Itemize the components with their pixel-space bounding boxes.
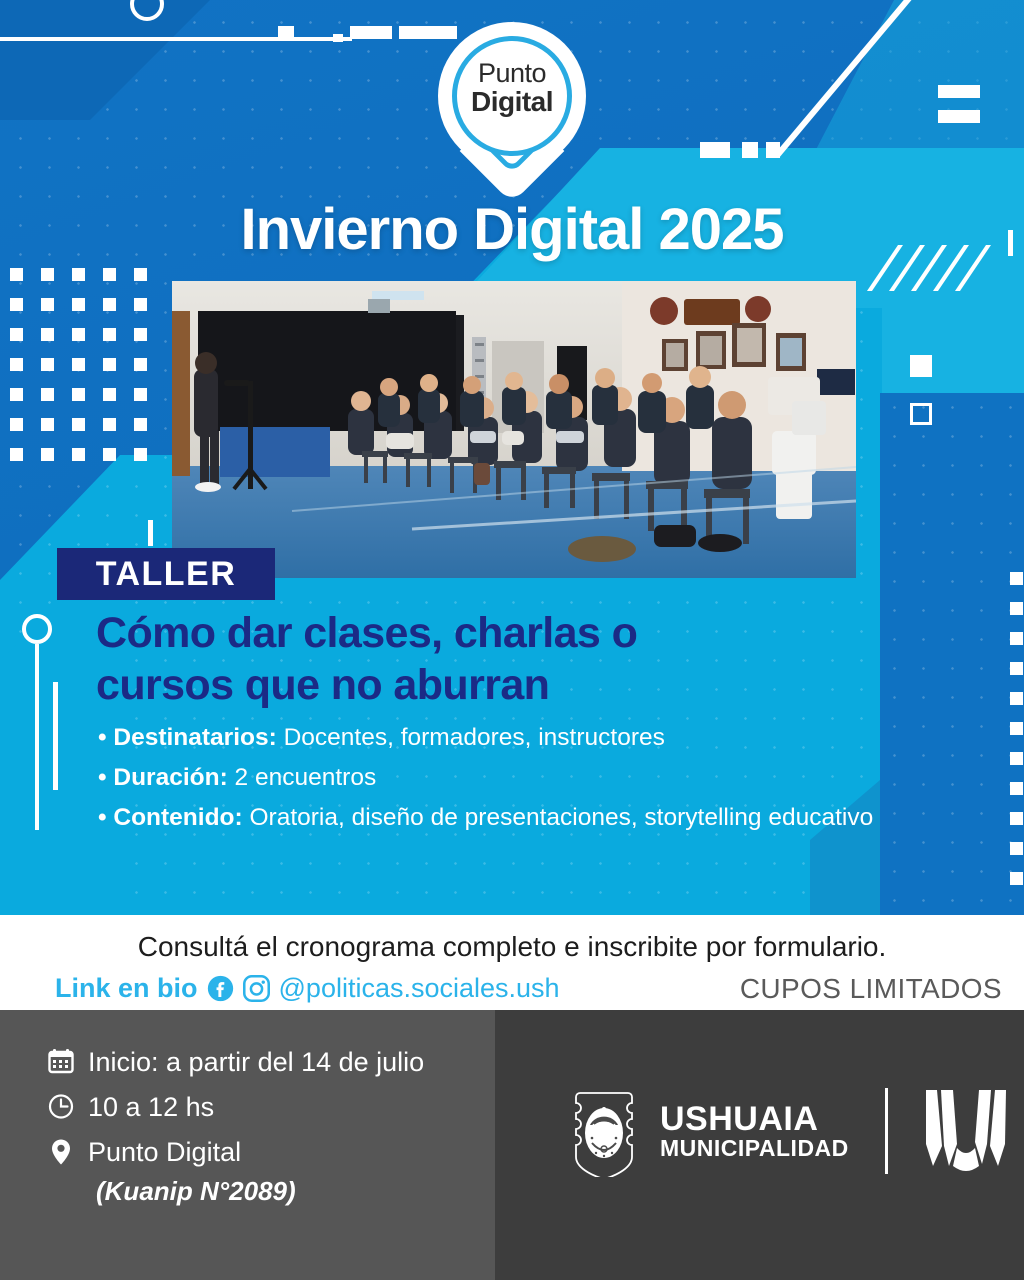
vertical-line-decoration-short xyxy=(53,682,58,790)
ushuaia-coat-of-arms-icon xyxy=(570,1085,638,1177)
social-handle[interactable]: @politicas.sociales.ush xyxy=(279,973,560,1004)
workshop-details-list: • Destinatarios: Docentes, formadores, i… xyxy=(98,718,928,838)
map-pin-icon xyxy=(48,1138,74,1166)
event-address-text: (Kuanip N°2089) xyxy=(96,1176,424,1207)
workshop-headline: Cómo dar clases, charlas o cursos que no… xyxy=(96,608,856,711)
poster-root: Punto Digital Invierno Digital 2025 xyxy=(0,0,1024,1280)
limited-slots-note: CUPOS LIMITADOS xyxy=(740,973,1002,1005)
bullet-marker: • xyxy=(98,764,107,791)
event-photo-illustration xyxy=(172,281,856,578)
pin-label: Punto Digital xyxy=(438,60,586,116)
list-item: • Contenido: Oratoria, diseño de present… xyxy=(98,798,928,838)
event-time-row: 10 a 12 hs xyxy=(48,1090,424,1125)
detail-label: Duración: xyxy=(113,764,227,791)
facebook-icon[interactable] xyxy=(207,975,234,1002)
detail-value: Docentes, formadores, instructores xyxy=(277,724,665,751)
bullet-marker: • xyxy=(98,724,107,751)
pin-label-line1: Punto xyxy=(438,60,586,88)
calendar-icon xyxy=(48,1048,74,1076)
pin-label-line2: Digital xyxy=(438,88,586,117)
link-in-bio-label[interactable]: Link en bio xyxy=(55,973,198,1004)
equals-bars-decoration xyxy=(938,85,980,135)
instagram-icon[interactable] xyxy=(243,975,270,1002)
headline-line-1: Cómo dar clases, charlas o xyxy=(96,608,856,660)
detail-value: Oratoria, diseño de presentaciones, stor… xyxy=(243,804,874,831)
event-place-row: Punto Digital xyxy=(48,1135,424,1170)
square-filled-decoration xyxy=(910,355,932,377)
clock-icon xyxy=(48,1093,74,1121)
square-outline-decoration xyxy=(910,403,932,425)
event-info-block: Inicio: a partir del 14 de julio 10 a 12… xyxy=(48,1045,424,1207)
cta-instruction: Consultá el cronograma completo e inscri… xyxy=(0,931,1024,963)
social-row[interactable]: Link en bio @politicas.sociales.ush xyxy=(55,973,560,1004)
logo-divider xyxy=(885,1088,888,1174)
org-subtitle: MUNICIPALIDAD xyxy=(660,1137,849,1160)
detail-value: 2 encuentros xyxy=(228,764,376,791)
ushuaia-u-logo-icon xyxy=(924,1086,1008,1176)
page-title: Invierno Digital 2025 xyxy=(0,196,1024,263)
cta-band: Consultá el cronograma completo e inscri… xyxy=(0,915,1024,1010)
event-time-text: 10 a 12 hs xyxy=(88,1090,214,1125)
badge-label: TALLER xyxy=(96,555,237,594)
detail-label: Contenido: xyxy=(113,804,242,831)
dashed-line-decoration xyxy=(0,37,352,41)
list-item: • Duración: 2 encuentros xyxy=(98,758,928,798)
event-photo xyxy=(172,281,856,578)
status-badge: TALLER xyxy=(57,548,275,600)
circle-outline-decoration-left xyxy=(22,614,52,644)
event-start-row: Inicio: a partir del 14 de julio xyxy=(48,1045,424,1080)
event-place-text: Punto Digital xyxy=(88,1135,241,1170)
municipality-wordmark: USHUAIA MUNICIPALIDAD xyxy=(660,1102,849,1160)
org-name: USHUAIA xyxy=(660,1102,849,1137)
bullet-marker: • xyxy=(98,804,107,831)
event-start-text: Inicio: a partir del 14 de julio xyxy=(88,1045,424,1080)
municipality-logo-group: USHUAIA MUNICIPALIDAD xyxy=(570,1085,1008,1177)
list-item: • Destinatarios: Docentes, formadores, i… xyxy=(98,718,928,758)
punto-digital-logo: Punto Digital xyxy=(438,22,586,194)
vertical-line-decoration-long xyxy=(35,644,39,830)
headline-line-2: cursos que no aburran xyxy=(96,660,856,712)
detail-label: Destinatarios: xyxy=(113,724,276,751)
tick-mark-decoration xyxy=(148,520,153,546)
